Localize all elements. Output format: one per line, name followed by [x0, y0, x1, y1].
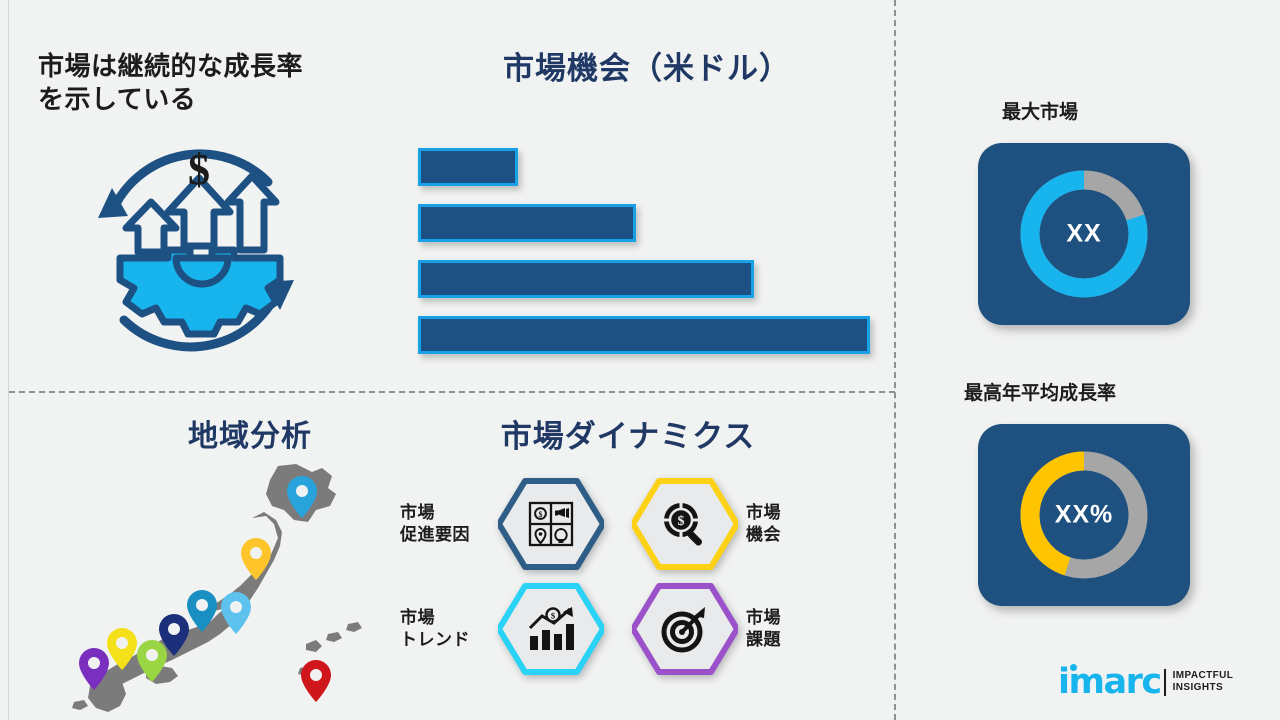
magnifier-dollar-icon: $ [660, 499, 710, 549]
bar-0 [418, 148, 518, 186]
dynamics-section-title: 市場ダイナミクス [408, 418, 848, 457]
dynamics-item-trends[interactable]: 市場 トレンド [400, 583, 620, 675]
dynamics-item-challenges-label: 市場 課題 [746, 607, 838, 651]
market-opportunity-bar-chart [418, 148, 878, 353]
svg-text:$: $ [678, 514, 685, 529]
logo-dot-icon [1070, 664, 1077, 671]
horizontal-dashed-divider [9, 391, 895, 393]
opportunity-section-title: 市場機会（米ドル） [412, 50, 882, 89]
logo-tagline: IMPACTFUL INSIGHTS [1173, 670, 1234, 695]
growth-section-title: 市場は継続的な成長率 を示している [38, 50, 388, 117]
bar-row [418, 260, 754, 298]
region-section-title: 地域分析 [120, 418, 380, 456]
growth-bar-chart-icon: $ [526, 606, 576, 652]
hexagon-trends: $ [498, 583, 604, 675]
left-edge-line [8, 0, 9, 720]
dollar-symbol: $ [188, 145, 210, 194]
imarc-logo[interactable]: imarc IMPACTFUL INSIGHTS [1058, 662, 1233, 702]
dynamics-grid: 市場 促進要因 $ [400, 478, 850, 693]
largest-market-card: XX [978, 143, 1190, 325]
target-arrow-icon [660, 604, 710, 654]
highest-cagr-value: XX% [978, 501, 1190, 530]
dynamics-item-opportunities-label: 市場 機会 [746, 502, 838, 546]
bar-2 [418, 260, 754, 298]
pin-okinawa [301, 660, 331, 702]
bar-3 [418, 316, 870, 354]
dynamics-item-trends-label: 市場 トレンド [400, 607, 498, 651]
bar-row [418, 148, 518, 186]
largest-market-value: XX [978, 220, 1190, 249]
highest-cagr-card: XX% [978, 424, 1190, 606]
dynamics-item-drivers[interactable]: 市場 促進要因 $ [400, 478, 620, 570]
japan-map [60, 462, 390, 712]
bar-row [418, 204, 636, 242]
growth-gear-arrows-icon: $ [72, 130, 320, 368]
hexagon-opportunities: $ [632, 478, 738, 570]
svg-text:$: $ [539, 510, 543, 519]
dynamics-item-opportunities[interactable]: $ 市場 機会 [632, 478, 850, 570]
dynamics-item-drivers-label: 市場 促進要因 [400, 502, 498, 546]
hexagon-challenges [632, 583, 738, 675]
hexagon-drivers: $ [498, 478, 604, 570]
infographic-slide: 市場は継続的な成長率 を示している $ 市場機 [0, 0, 1280, 720]
pin-tohoku [241, 538, 271, 580]
bar-row [418, 316, 870, 354]
dynamics-item-challenges[interactable]: 市場 課題 [632, 583, 850, 675]
bar-1 [418, 204, 636, 242]
logo-divider [1164, 669, 1166, 696]
highest-cagr-label: 最高年平均成長率 [895, 378, 1185, 405]
largest-market-label: 最大市場 [895, 97, 1185, 124]
puzzle-pieces-icon: $ [527, 500, 575, 548]
